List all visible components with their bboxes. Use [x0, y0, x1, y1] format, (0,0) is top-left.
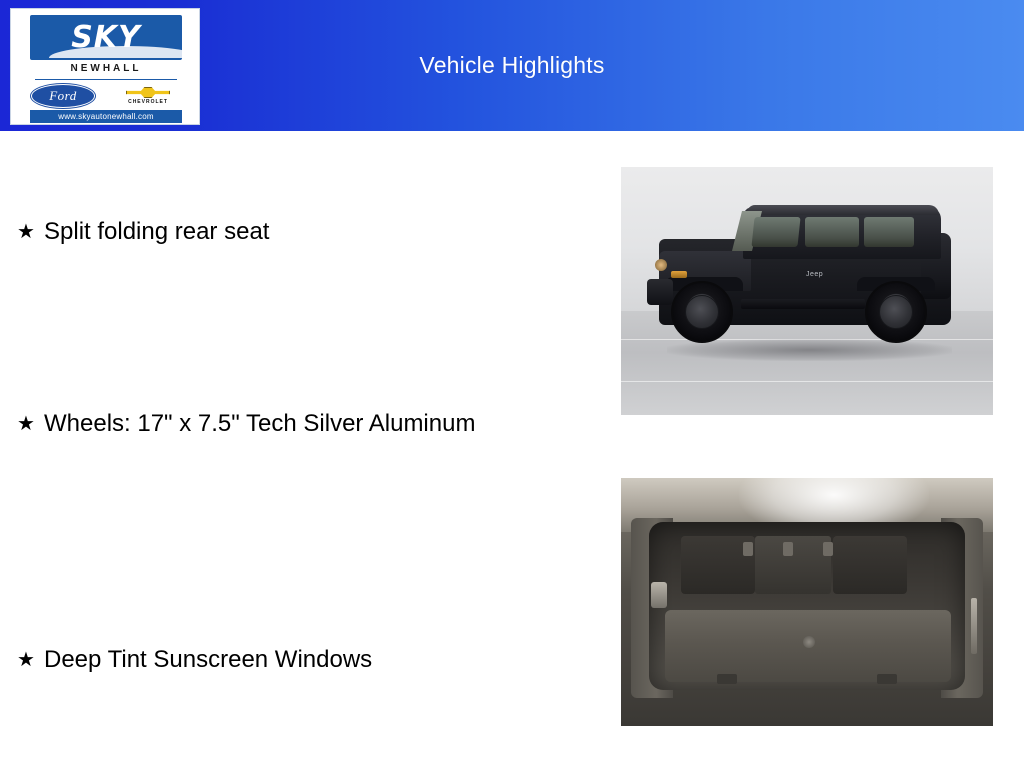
logo-divider: [35, 79, 177, 80]
cargo-latch: [651, 582, 667, 608]
chevrolet-bowtie-icon: CHEVROLET: [115, 84, 181, 108]
floor-seam-line: [621, 381, 993, 382]
star-bullet-icon: ★: [12, 644, 44, 676]
cargo-back-wall: [755, 536, 831, 594]
exterior-photo: Jeep: [621, 167, 993, 415]
list-item: ★ Wheels: 17" x 7.5" Tech Silver Aluminu…: [12, 408, 572, 440]
highlight-text: Split folding rear seat: [44, 216, 269, 248]
ford-oval-icon: Ford: [31, 84, 95, 108]
interior-photo: [621, 478, 993, 726]
chevrolet-label: CHEVROLET: [128, 99, 168, 105]
vehicle-rocker-panel: [741, 299, 865, 309]
vehicle-front-bumper: [647, 279, 673, 305]
list-item: ★ Deep Tint Sunscreen Windows: [12, 644, 572, 676]
vehicle-badge: Jeep: [806, 271, 823, 278]
vehicle-turn-signal: [671, 271, 687, 278]
highlight-text: Wheels: 17" x 7.5" Tech Silver Aluminum: [44, 408, 475, 440]
tailgate-edge: [621, 682, 993, 726]
vehicle-headlight: [655, 259, 667, 271]
vehicle-window: [864, 217, 914, 247]
cargo-hook-icon: [823, 542, 833, 556]
logo-location-text: NEWHALL: [11, 63, 200, 74]
logo-sky-band: SKY: [30, 15, 182, 60]
logo-website-url: www.skyautonewhall.com: [30, 110, 182, 123]
star-bullet-icon: ★: [12, 408, 44, 440]
cargo-floor-knob: [803, 636, 815, 648]
rear-seatback-right: [833, 536, 907, 594]
vehicle-roof: [747, 205, 939, 215]
list-item: ★ Split folding rear seat: [12, 216, 572, 248]
vehicle-front-wheel: [671, 281, 733, 343]
vehicle-window: [751, 217, 800, 247]
slide-canvas: Vehicle Highlights SKY NEWHALL Ford CHEV…: [0, 0, 1024, 768]
cargo-hook-icon: [743, 542, 753, 556]
vehicle-rear-wheel: [865, 281, 927, 343]
highlight-text: Deep Tint Sunscreen Windows: [44, 644, 372, 676]
vehicle-window: [805, 217, 859, 247]
star-bullet-icon: ★: [12, 216, 44, 248]
cargo-strap: [971, 598, 977, 654]
wheel-hub: [685, 295, 719, 329]
vehicle-shadow: [667, 339, 952, 361]
bowtie-shape: [126, 87, 170, 98]
cargo-hook-icon: [783, 542, 793, 556]
dealer-logo: SKY NEWHALL Ford CHEVROLET www.skyautone…: [10, 8, 200, 125]
wheel-hub: [879, 295, 913, 329]
logo-brand-row: Ford CHEVROLET: [31, 83, 181, 109]
